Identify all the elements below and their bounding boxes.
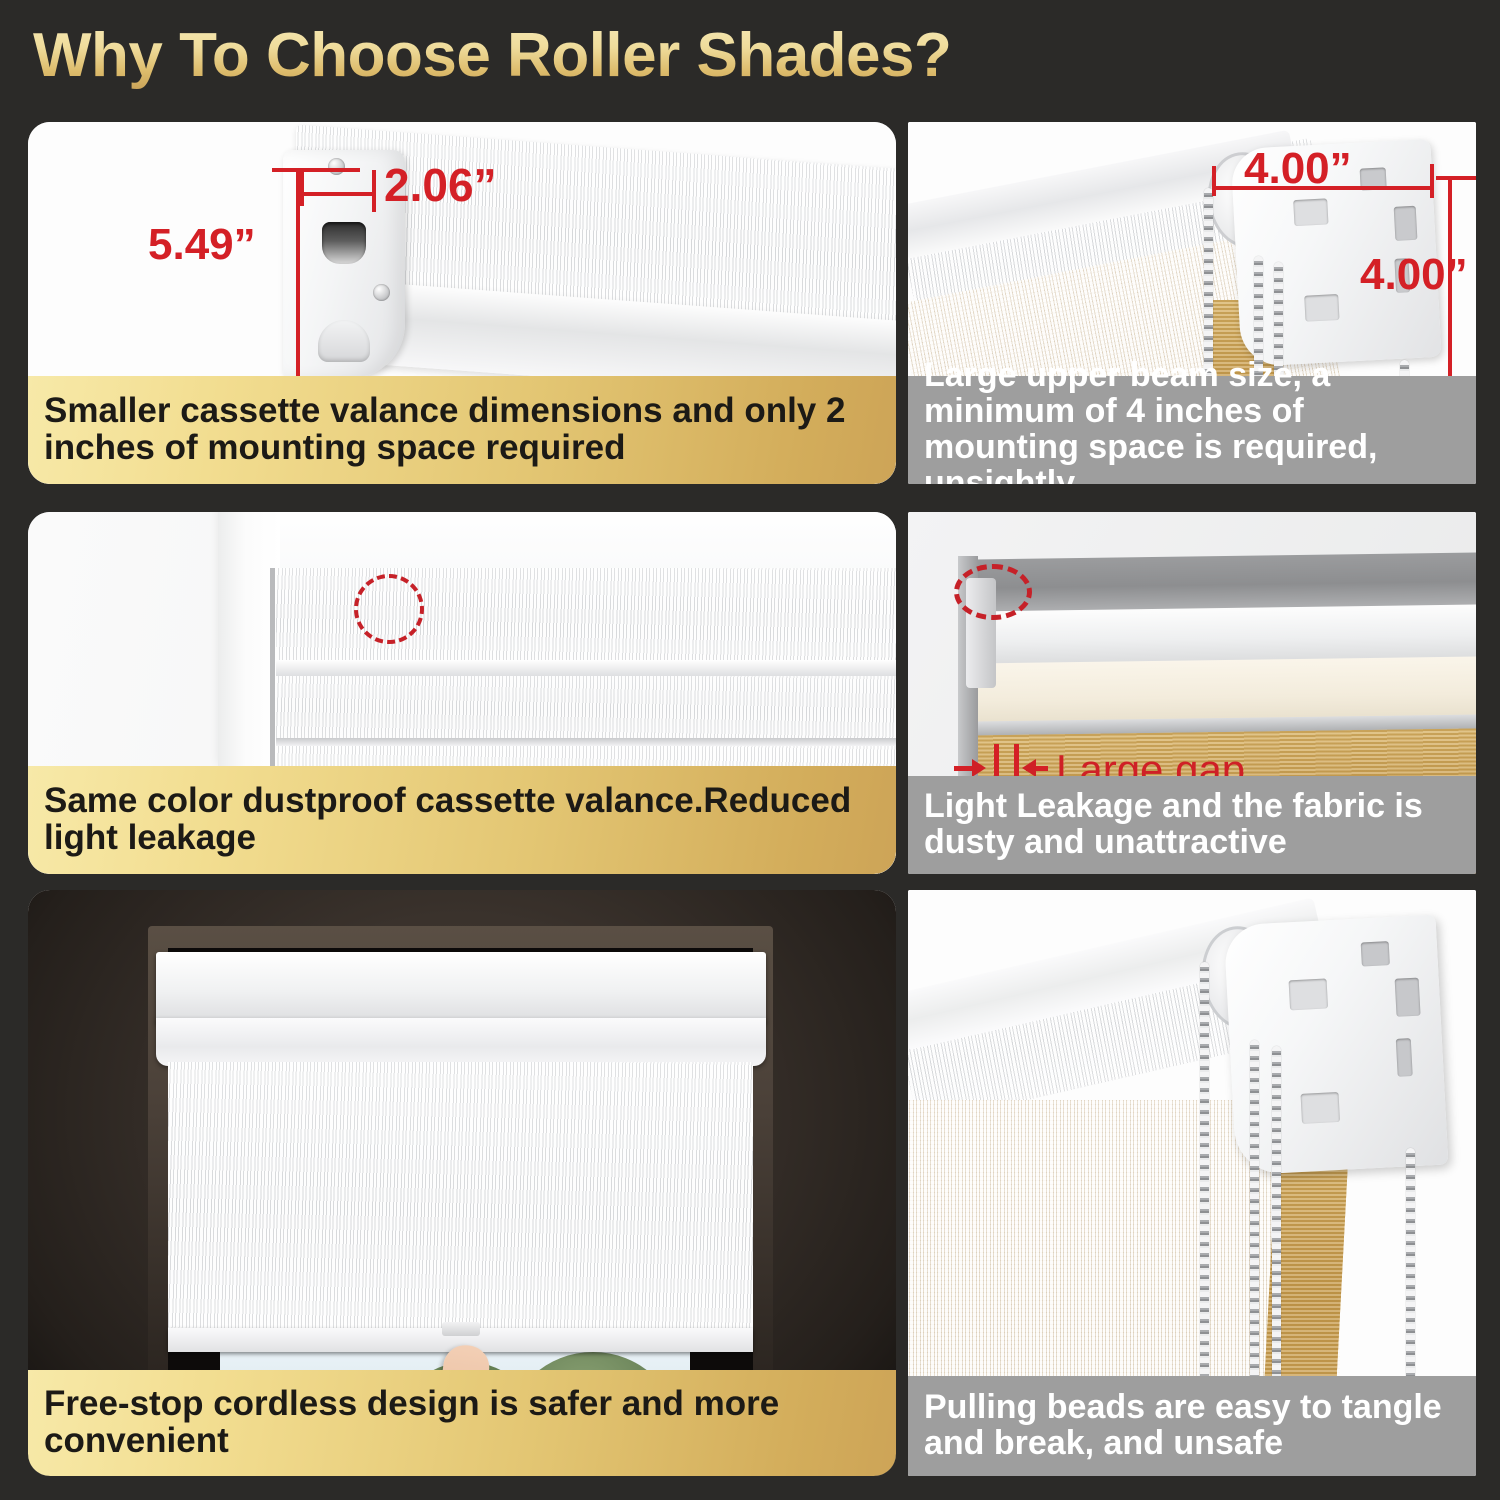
dim-tick-height-top bbox=[1436, 176, 1476, 180]
dimension-label-width: 4.00” bbox=[1244, 144, 1352, 194]
bracket-logo bbox=[1293, 198, 1328, 226]
dim-tick-width-right bbox=[1430, 164, 1434, 198]
valance-slot bbox=[322, 222, 366, 264]
dimension-label-height: 5.49” bbox=[148, 220, 256, 270]
shade-seam bbox=[276, 738, 896, 746]
highlight-circle-gap bbox=[354, 574, 424, 644]
panel-pulling-beads: Pulling beads are easy to tangle and bre… bbox=[908, 890, 1476, 1476]
panel-smaller-cassette: 2.06” 5.49” Smaller cassette valance dim… bbox=[28, 122, 896, 484]
dimension-label-depth: 2.06” bbox=[384, 158, 497, 212]
bracket-notch bbox=[1394, 206, 1418, 241]
shade-band-upper bbox=[276, 676, 896, 738]
cassette-valance bbox=[156, 952, 766, 1024]
gap-arrow-right-head bbox=[1022, 759, 1036, 777]
panel-light-leakage: Large gap Light Leakage and the fabric i… bbox=[908, 512, 1476, 874]
bracket-logo bbox=[1304, 294, 1339, 322]
caption-text: Light Leakage and the fabric is dusty an… bbox=[924, 788, 1460, 860]
highlight-circle-gap bbox=[954, 564, 1032, 620]
panel-large-upper-beam: 4.00” 4.00” Large upper beam size, a min… bbox=[908, 122, 1476, 484]
title-bar: Why To Choose Roller Shades? bbox=[0, 0, 1500, 112]
caption-text: Free-stop cordless design is safer and m… bbox=[44, 1385, 880, 1459]
dimension-label-height: 4.00” bbox=[1360, 250, 1468, 300]
gap-arrow-left-head bbox=[972, 759, 986, 777]
caption-text: Pulling beads are easy to tangle and bre… bbox=[924, 1389, 1460, 1461]
caption-bar-smaller-cassette: Smaller cassette valance dimensions and … bbox=[28, 376, 896, 484]
caption-bar-cordless: Free-stop cordless design is safer and m… bbox=[28, 1370, 896, 1476]
bracket-logo bbox=[1289, 978, 1329, 1010]
shade-fabric-panel bbox=[168, 1062, 753, 1334]
dim-tick-height-top bbox=[272, 168, 326, 172]
caption-bar-large-beam: Large upper beam size, a minimum of 4 in… bbox=[908, 376, 1476, 484]
bracket-notch bbox=[1396, 1038, 1413, 1077]
bracket-logo bbox=[1301, 1092, 1341, 1124]
panel-cordless-design: Free-stop cordless design is safer and m… bbox=[28, 890, 896, 1476]
dim-tick-depth bbox=[372, 170, 376, 212]
screw-icon bbox=[373, 284, 390, 301]
caption-text: Large upper beam size, a minimum of 4 in… bbox=[924, 357, 1460, 484]
caption-bar-dustproof: Same color dustproof cassette valance.Re… bbox=[28, 766, 896, 874]
dim-line-depth-2 bbox=[300, 168, 304, 206]
panel-dustproof-valance: smaller gap Same color dustproof cassett… bbox=[28, 512, 896, 874]
caption-text: Smaller cassette valance dimensions and … bbox=[44, 392, 880, 466]
valance-edge bbox=[276, 660, 896, 676]
pull-grip bbox=[442, 1322, 480, 1336]
caption-text: Same color dustproof cassette valance.Re… bbox=[44, 782, 880, 856]
bracket-notch bbox=[1395, 978, 1421, 1017]
page-title: Why To Choose Roller Shades? bbox=[33, 20, 951, 91]
caption-bar-pulling-beads: Pulling beads are easy to tangle and bre… bbox=[908, 1376, 1476, 1476]
bracket-notch bbox=[1361, 941, 1390, 966]
screw-icon bbox=[328, 158, 345, 175]
dim-arrow-depth bbox=[304, 192, 376, 196]
caption-bar-light-leakage: Light Leakage and the fabric is dusty an… bbox=[908, 776, 1476, 874]
dim-tick-width-left bbox=[1212, 166, 1216, 196]
cassette-lip bbox=[156, 1018, 766, 1066]
